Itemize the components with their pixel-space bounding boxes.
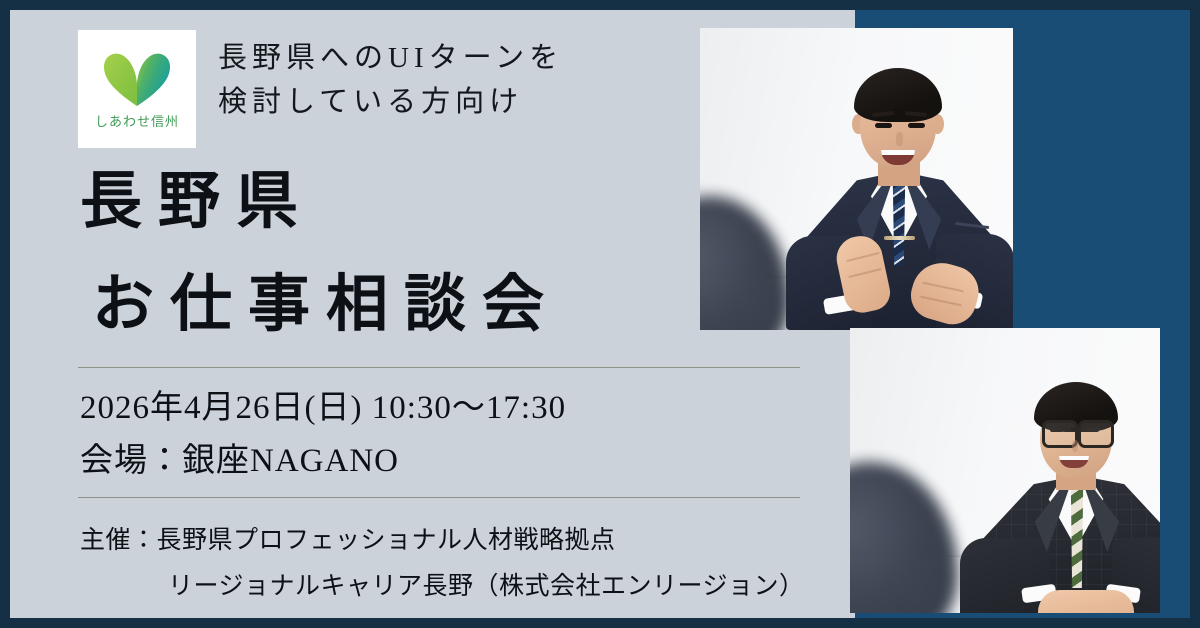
figure-arm-left xyxy=(960,538,1050,613)
eyeglasses-bridge xyxy=(1071,428,1081,431)
figure-tie-clip xyxy=(884,236,915,240)
eyeglasses-icon xyxy=(1078,420,1114,448)
shiawase-shinshu-logo: しあわせ信州 xyxy=(78,30,196,148)
divider-bottom xyxy=(78,497,800,498)
organizer-line-1: 主催：長野県プロフェッショナル人材戦略拠点 xyxy=(80,518,870,564)
title-line-1: 長野県 xyxy=(80,170,840,235)
subtitle-line-1: 長野県へのUIターンを xyxy=(218,36,563,80)
page-title: 長野県 お仕事相談会 xyxy=(80,170,840,338)
figure-nose xyxy=(896,132,903,146)
figure-clasped-hands xyxy=(1038,590,1134,613)
event-info: 2026年4月26日(日) 10:30〜17:30 会場：銀座NAGANO xyxy=(80,382,840,489)
poster-content: しあわせ信州 長野県へのUIターンを 検討している方向け 長野県 お仕事相談会 … xyxy=(10,10,855,618)
figure-nose xyxy=(1072,440,1078,452)
event-datetime: 2026年4月26日(日) 10:30〜17:30 xyxy=(80,382,840,435)
logo-wordmark: しあわせ信州 xyxy=(95,111,179,130)
figure-eye-left xyxy=(875,123,892,128)
heart-leaf-icon xyxy=(100,48,174,108)
event-venue: 会場：銀座NAGANO xyxy=(80,435,840,488)
organizer-info: 主催：長野県プロフェッショナル人材戦略拠点 リージョナルキャリア長野（株式会社エ… xyxy=(80,518,870,611)
poster-root: しあわせ信州 長野県へのUIターンを 検討している方向け 長野県 お仕事相談会 … xyxy=(0,0,1200,628)
photo-consultant-listening xyxy=(850,328,1160,613)
divider-top xyxy=(78,367,800,368)
subtitle: 長野県へのUIターンを 検討している方向け xyxy=(218,30,563,124)
organizer-line-2: リージョナルキャリア長野（株式会社エンリージョン） xyxy=(80,564,870,610)
header-row: しあわせ信州 長野県へのUIターンを 検討している方向け xyxy=(78,30,563,148)
title-line-2: お仕事相談会 xyxy=(80,273,840,338)
figure-eye-right xyxy=(908,123,925,128)
subtitle-line-2: 検討している方向け xyxy=(218,80,563,124)
